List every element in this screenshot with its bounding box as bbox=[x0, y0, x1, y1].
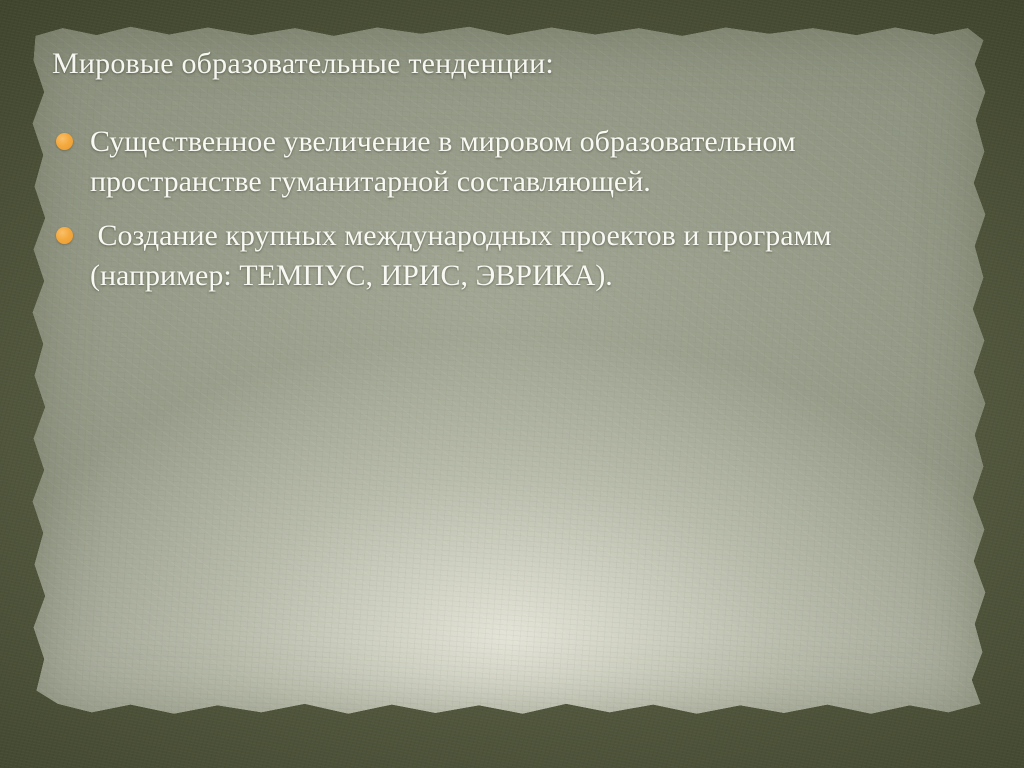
orange-dot-bullet-icon bbox=[56, 227, 73, 244]
slide-content: Мировые образовательные тенденции: Сущес… bbox=[0, 0, 1024, 768]
list-item-text: Создание крупных международных проектов … bbox=[90, 216, 952, 296]
list-item-text: Существенное увеличение в мировом образо… bbox=[90, 122, 952, 202]
bullet-list: Существенное увеличение в мировом образо… bbox=[52, 122, 952, 310]
page-title: Мировые образовательные тенденции: bbox=[52, 44, 952, 84]
list-item: Создание крупных международных проектов … bbox=[52, 216, 952, 296]
list-item: Существенное увеличение в мировом образо… bbox=[52, 122, 952, 202]
orange-dot-bullet-icon bbox=[56, 133, 73, 150]
presentation-slide: Мировые образовательные тенденции: Сущес… bbox=[0, 0, 1024, 768]
